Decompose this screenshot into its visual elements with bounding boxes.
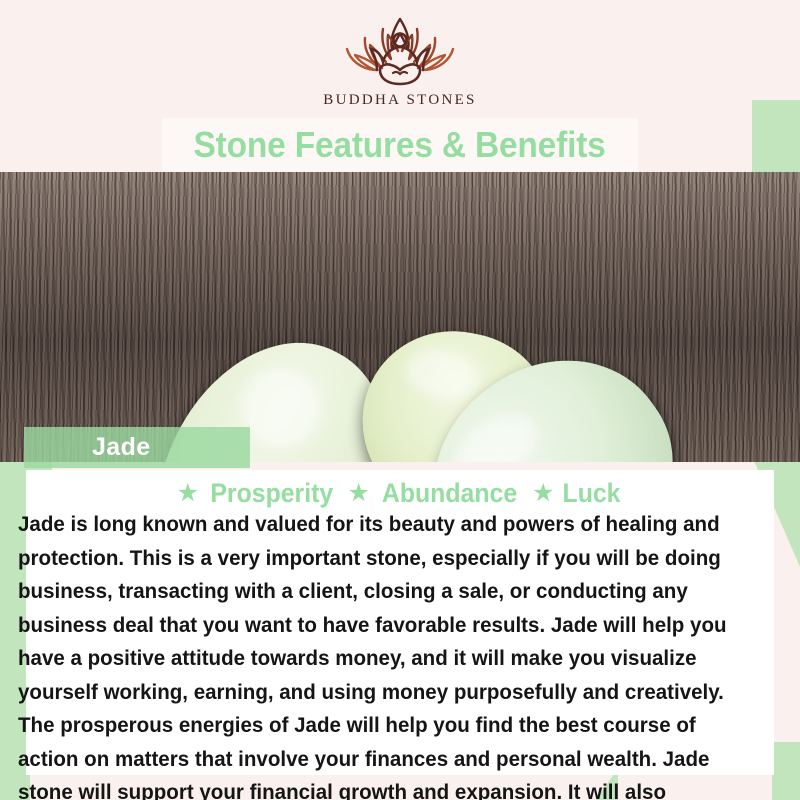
keyword-item-abundance: ★ Abundance: [348, 478, 523, 509]
stone-benefits-infographic: BUDDHA STONES Stone Features & Benefits …: [0, 0, 800, 800]
keyword-item-luck: ★ Luck: [532, 478, 623, 509]
star-icon: ★: [177, 481, 199, 506]
stone-name-band: Jade: [24, 427, 250, 468]
brand-name: BUDDHA STONES: [0, 92, 800, 109]
keyword-label: Luck: [563, 478, 621, 509]
keyword-item-prosperity: ★ Prosperity: [177, 478, 339, 509]
accent-green-right-top: [752, 100, 800, 178]
stone-name-label: Jade: [92, 433, 151, 462]
star-icon: ★: [348, 481, 370, 506]
stone-photo: [0, 172, 800, 462]
accent-green-bottom-right: [772, 742, 800, 800]
keyword-label: Prosperity: [210, 478, 333, 509]
keyword-label: Abundance: [382, 478, 517, 509]
page-title: Stone Features & Benefits: [194, 124, 606, 166]
stone-description: Jade is long known and valued for its be…: [18, 508, 751, 800]
brand-logo: BUDDHA STONES: [0, 16, 800, 109]
lotus-meditation-icon: [325, 16, 475, 90]
title-band: Stone Features & Benefits: [162, 118, 638, 172]
star-icon: ★: [532, 481, 554, 506]
keyword-list: ★ Prosperity ★ Abundance ★ Luck: [0, 478, 800, 509]
